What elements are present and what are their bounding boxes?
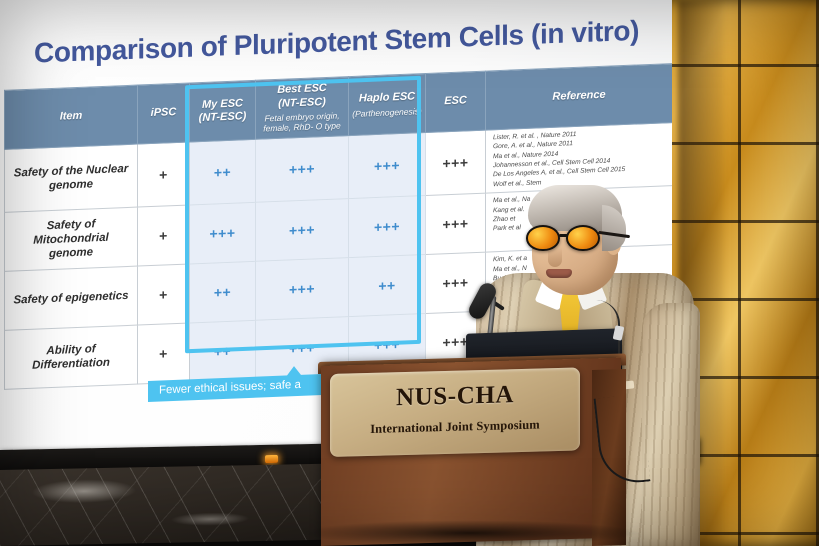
sleeve-stripe-pattern xyxy=(642,303,700,546)
row-label: Safety of the Nuclear genome xyxy=(5,144,138,212)
col-header-item: Item xyxy=(5,85,138,149)
col-header-my-esc-line1: My ESC xyxy=(202,97,243,111)
cell-ipsc: + xyxy=(138,264,190,325)
cell-my-esc: ++ xyxy=(190,261,256,323)
podium-plaque-title: NUS-CHA xyxy=(330,380,580,412)
podium-plaque: NUS-CHA International Joint Symposium xyxy=(330,367,580,457)
cell-haplo-esc: +++ xyxy=(349,132,426,198)
cell-haplo-esc: +++ xyxy=(349,196,426,258)
cell-best-esc: +++ xyxy=(256,199,349,262)
glasses-lens-left xyxy=(526,225,560,251)
cell-best-esc: +++ xyxy=(256,136,349,203)
row-label: Safety of Mitochondrial genome xyxy=(5,207,138,271)
podium-plaque-subtitle: International Joint Symposium xyxy=(330,416,580,438)
row-label: Ability of Differentiation xyxy=(5,325,138,389)
cell-ipsc: + xyxy=(138,323,190,384)
col-header-best-esc: Best ESC (NT-ESC) Fetal embryo origin, f… xyxy=(256,77,349,140)
glasses-temple xyxy=(598,231,630,238)
cell-my-esc: ++ xyxy=(190,139,256,205)
glasses-bridge xyxy=(559,234,568,237)
col-header-haplo-esc-sub: (Parthenogenesis) xyxy=(349,106,425,119)
cell-my-esc: +++ xyxy=(190,202,256,264)
cell-best-esc: +++ xyxy=(256,258,349,321)
col-header-ipsc: iPSC xyxy=(138,83,190,144)
slide-title: Comparison of Pluripotent Stem Cells (in… xyxy=(34,16,634,68)
col-header-item-label: Item xyxy=(60,110,83,123)
col-header-haplo-esc-line1: Haplo ESC xyxy=(359,91,415,105)
col-header-haplo-esc: Haplo ESC (Parthenogenesis) xyxy=(349,73,426,135)
conference-photo-scene: Comparison of Pluripotent Stem Cells (in… xyxy=(0,0,819,546)
col-header-best-esc-line2: (NT-ESC) xyxy=(278,96,326,110)
cell-ipsc: + xyxy=(138,142,190,207)
col-header-best-esc-sub: Fetal embryo origin, female, RhD- O type xyxy=(256,110,348,134)
floor-shadow xyxy=(300,520,640,546)
glasses-lens-right xyxy=(566,225,600,251)
tinted-glasses-icon xyxy=(526,225,630,251)
cell-haplo-esc: ++ xyxy=(349,255,426,317)
col-header-my-esc-line2: (NT-ESC) xyxy=(199,110,247,124)
col-header-reference: Reference xyxy=(486,64,673,131)
col-header-esc: ESC xyxy=(426,71,486,132)
cell-reference: Lister, R. et al. , Nature 2011 Gore, A.… xyxy=(486,123,673,194)
col-header-reference-label: Reference xyxy=(552,89,605,103)
cell-ipsc: + xyxy=(138,205,190,266)
indicator-light-icon xyxy=(265,455,278,463)
col-header-best-esc-line1: Best ESC xyxy=(277,82,327,96)
col-header-esc-label: ESC xyxy=(444,95,467,108)
row-label: Safety of epigenetics xyxy=(5,266,138,330)
speaker-arm xyxy=(642,303,700,546)
col-header-my-esc: My ESC (NT-ESC) xyxy=(190,80,256,142)
cell-my-esc: ++ xyxy=(190,320,256,382)
speaker-mouth xyxy=(546,269,572,278)
col-header-ipsc-label: iPSC xyxy=(151,106,177,119)
